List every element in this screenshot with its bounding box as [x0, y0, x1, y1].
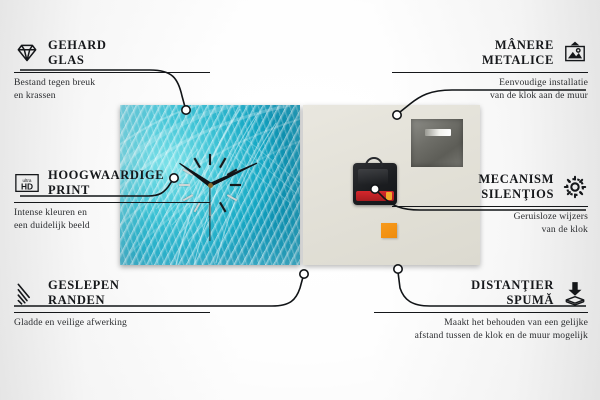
feature-subtitle: Intense kleuren eneen duidelijk beeld [14, 207, 210, 232]
feature-divider [14, 72, 210, 73]
feature-title: DISTANŢIERSPUMĂ [471, 278, 554, 308]
hanger-keyhole-slot [425, 129, 451, 136]
feature-divider [14, 312, 210, 313]
diamond-icon [14, 40, 40, 66]
hanger-plate [411, 119, 463, 167]
feature-heading: MÂNEREMETALICE [392, 38, 588, 68]
feature-heading: DISTANŢIERSPUMĂ [374, 278, 588, 308]
feature-divider [392, 72, 588, 73]
spacer-press-icon [562, 280, 588, 306]
feature-subtitle: Geruisloze wijzersvan de klok [392, 211, 588, 236]
feature-title: GESLEPENRANDEN [48, 278, 120, 308]
mechanism-housing-detail [358, 169, 388, 185]
gear-icon [562, 174, 588, 200]
mechanism-hanging-loop [365, 157, 383, 167]
feature-subtitle: Maakt het behouden van een gelijkeafstan… [374, 317, 588, 342]
feature-hoogwaardige-print: ultra HD HOOGWAARDIGEPRINT Intense kleur… [14, 168, 210, 232]
feature-manere-metalice: MÂNEREMETALICE Eenvoudige installatievan… [392, 38, 588, 102]
feature-title: HOOGWAARDIGEPRINT [48, 168, 164, 198]
feature-subtitle: Bestand tegen breuken krassen [14, 77, 210, 102]
feature-title: MÂNEREMETALICE [482, 38, 554, 68]
feature-heading: ultra HD HOOGWAARDIGEPRINT [14, 168, 210, 198]
feature-heading: GEHARDGLAS [14, 38, 210, 68]
feature-subtitle: Gladde en veilige afwerking [14, 317, 210, 329]
minute-hand [209, 161, 258, 187]
feature-subtitle: Eenvoudige installatievan de klok aan de… [392, 77, 588, 102]
feature-divider [14, 202, 210, 203]
feature-mecanism-silentios: MECANISMSILENŢIOS Geruisloze wijzersvan … [392, 172, 588, 236]
feature-heading: MECANISMSILENŢIOS [392, 172, 588, 202]
feature-divider [374, 312, 588, 313]
feature-heading: GESLEPENRANDEN [14, 278, 210, 308]
feature-title: MECANISMSILENŢIOS [478, 172, 554, 202]
feature-gehard-glas: GEHARDGLAS Bestand tegen breuken krassen [14, 38, 210, 102]
framed-picture-icon [562, 40, 588, 66]
feature-divider [392, 206, 588, 207]
quartz-mechanism [353, 163, 397, 205]
feature-title: GEHARDGLAS [48, 38, 106, 68]
feature-geslepen-randen: GESLEPENRANDEN Gladde en veilige afwerki… [14, 278, 210, 330]
feature-distantier-spuma: DISTANŢIERSPUMĂ Maakt het behouden van e… [374, 278, 588, 342]
ultra-hd-icon: ultra HD [14, 170, 40, 196]
battery [356, 191, 394, 201]
svg-text:HD: HD [21, 182, 33, 192]
product-infographic: GEHARDGLAS Bestand tegen breuken krassen… [0, 0, 600, 400]
beveled-edges-icon [14, 280, 40, 306]
node-geslepen-randen [300, 270, 308, 278]
